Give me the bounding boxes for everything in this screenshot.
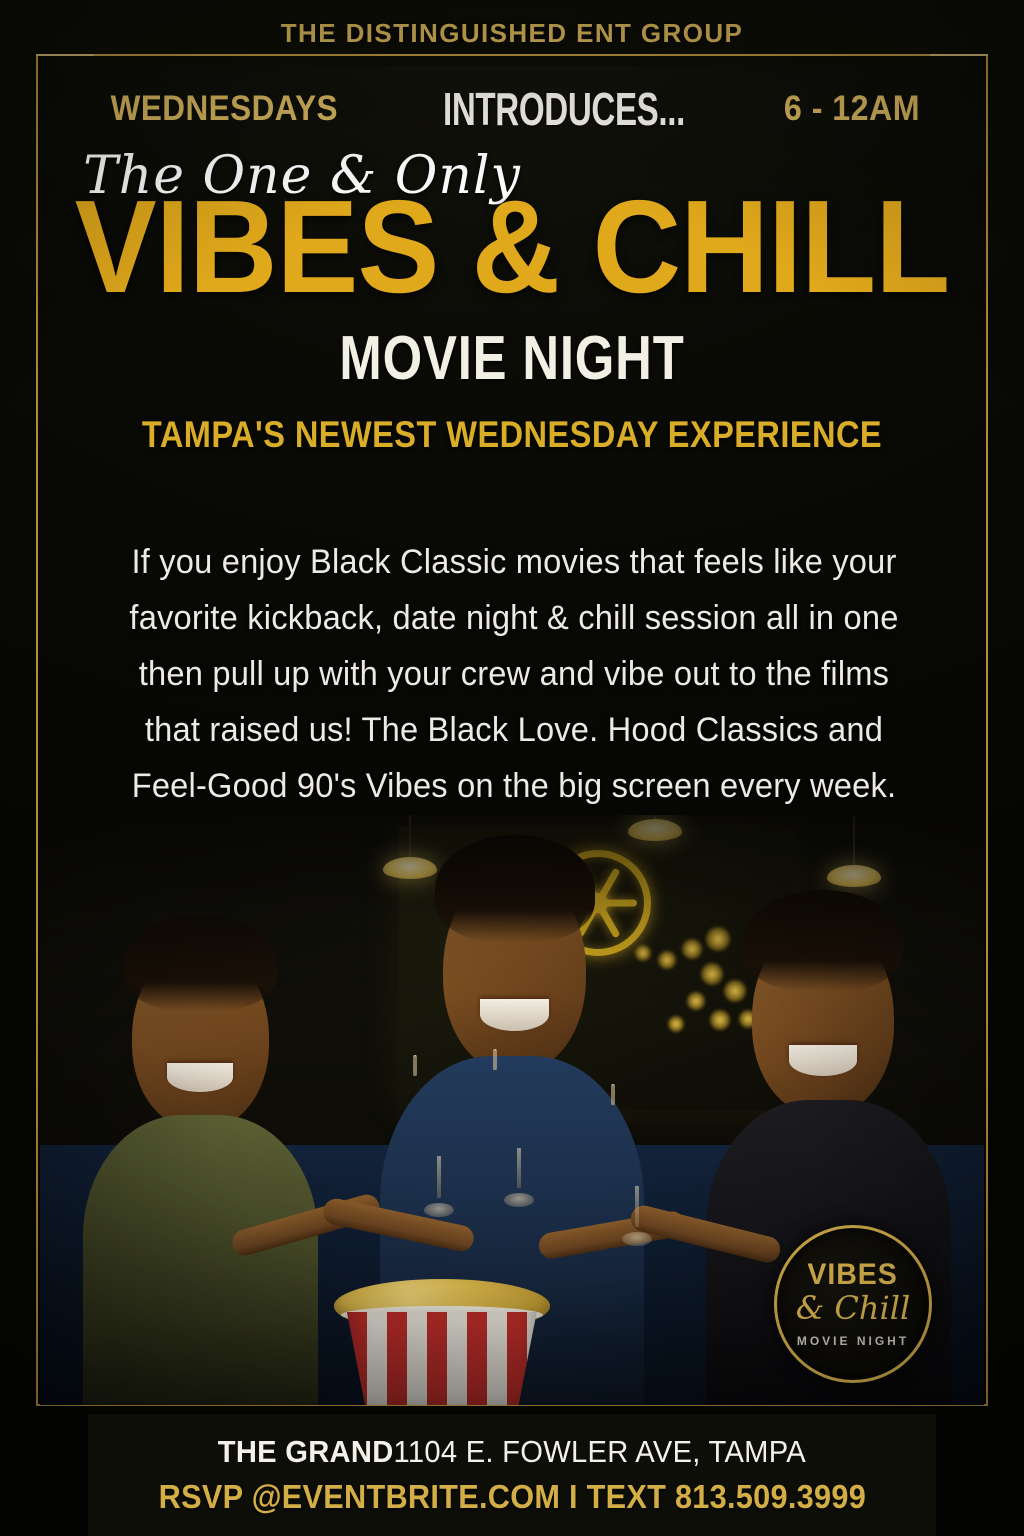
introduces-label: INTRODUCES...: [443, 82, 685, 136]
champagne-glass: [493, 1051, 545, 1207]
person-woman-left: [78, 945, 323, 1405]
description-line: Feel-Good 90's Vibes on the big screen e…: [113, 758, 916, 814]
person-hair: [124, 915, 278, 1011]
pendant-cord: [853, 815, 855, 867]
glass-stem: [437, 1156, 441, 1198]
person-torso: [83, 1115, 319, 1405]
person-smile: [480, 999, 549, 1032]
badge-title: VIBES: [808, 1260, 898, 1290]
bucket-cup: [347, 1312, 537, 1405]
description-line: then pull up with your crew and vibe out…: [113, 646, 916, 702]
glass-stem: [635, 1186, 639, 1228]
organizer-name: THE DISTINGUISHED ENT GROUP: [281, 18, 744, 49]
badge-subtitle: MOVIE NIGHT: [797, 1334, 909, 1348]
champagne-glass: [413, 1057, 465, 1217]
pendant-light: [824, 815, 884, 893]
description-text: If you enjoy Black Classic movies that f…: [96, 534, 932, 814]
title-block: The One & Only VIBES & CHILL MOVIE NIGHT…: [0, 150, 1024, 456]
venue-name: THE GRAND: [218, 1434, 394, 1469]
event-subtitle: MOVIE NIGHT: [92, 323, 932, 394]
glass-foot: [424, 1203, 454, 1217]
description-line: If you enjoy Black Classic movies that f…: [113, 534, 916, 590]
person-hair: [435, 835, 595, 941]
pendant-cord: [409, 815, 411, 859]
glass-bowl: [413, 1055, 417, 1076]
person-smile: [167, 1063, 233, 1092]
venue-line: THE GRAND1104 E. FOWLER AVE, TAMPA: [218, 1434, 806, 1470]
description-line: favorite kickback, date night & chill se…: [113, 590, 916, 646]
vibes-and-chill-logo-badge: VIBES & Chill MOVIE NIGHT: [774, 1225, 932, 1383]
pendant-light: [625, 815, 685, 841]
bokeh-light: [668, 1016, 684, 1032]
event-flyer: THE DISTINGUISHED ENT GROUP WEDNESDAYS I…: [0, 0, 1024, 1536]
badge-script: & Chill: [796, 1292, 910, 1326]
description-line: that raised us! The Black Love. Hood Cla…: [113, 702, 916, 758]
bokeh-light: [682, 939, 702, 959]
popcorn-bucket: [347, 1279, 537, 1405]
event-title: VIBES & CHILL: [36, 186, 988, 307]
champagne-glass: [611, 1086, 663, 1246]
footer: THE GRAND1104 E. FOWLER AVE, TAMPA RSVP …: [88, 1414, 936, 1536]
person-head: [443, 868, 586, 1072]
bokeh-light: [658, 951, 676, 969]
event-day: WEDNESDAYS: [110, 89, 337, 129]
glass-stem: [517, 1148, 521, 1189]
event-photo: VIBES & Chill MOVIE NIGHT: [40, 815, 984, 1405]
event-tagline: TAMPA'S NEWEST WEDNESDAY EXPERIENCE: [61, 414, 962, 456]
glass-bowl: [611, 1084, 615, 1105]
pendant-bulb: [827, 865, 881, 887]
person-hair: [743, 890, 903, 991]
person-head: [132, 945, 269, 1129]
header-row: WEDNESDAYS INTRODUCES... 6 - 12AM: [36, 78, 988, 140]
glass-bowl: [493, 1049, 497, 1070]
person-smile: [789, 1045, 858, 1076]
glass-foot: [504, 1193, 534, 1207]
top-banner: THE DISTINGUISHED ENT GROUP: [88, 0, 936, 66]
pendant-bulb: [628, 819, 682, 841]
event-time: 6 - 12AM: [784, 89, 920, 129]
venue-address: 1104 E. FOWLER AVE, TAMPA: [394, 1434, 806, 1469]
person-head: [752, 921, 895, 1115]
rsvp-line[interactable]: RSVP @EVENTBRITE.COM I TEXT 813.509.3999: [158, 1478, 865, 1516]
glass-foot: [622, 1232, 652, 1246]
